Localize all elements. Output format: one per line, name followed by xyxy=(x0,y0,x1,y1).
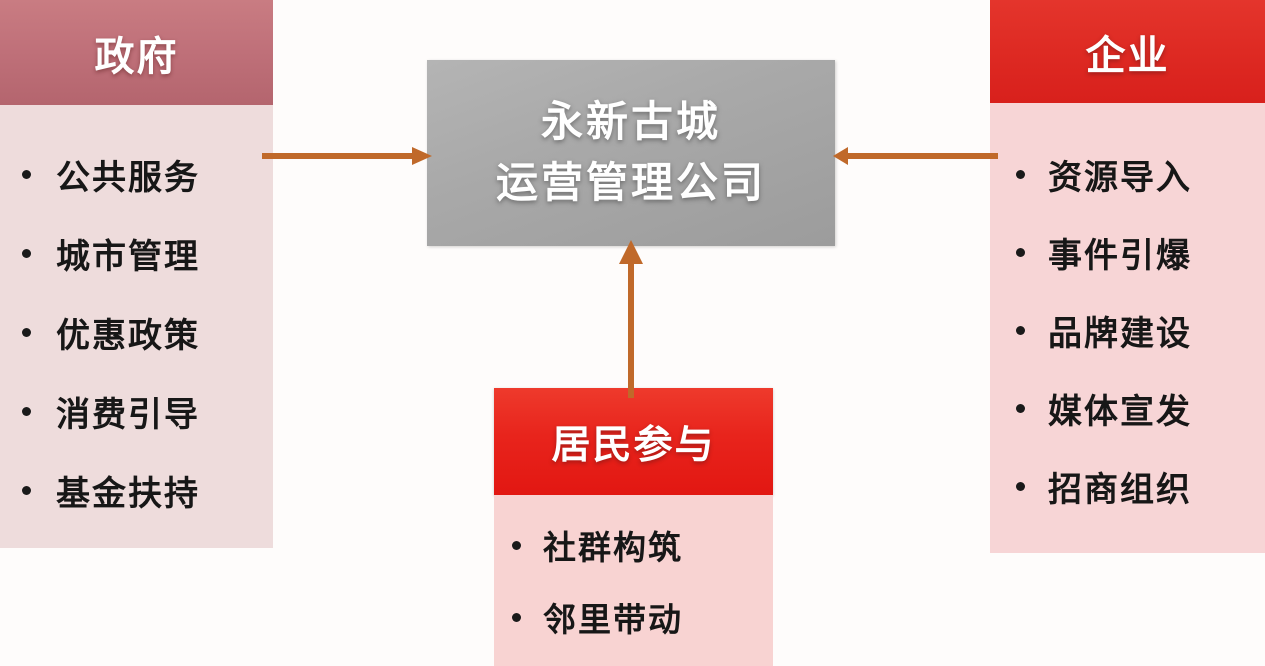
enterprise-item-label: 事件引爆 xyxy=(1048,228,1192,277)
enterprise-panel-body: 资源导入 事件引爆 品牌建设 媒体宣发 招商组织 xyxy=(990,103,1265,553)
residents-panel: 居民参与 社群构筑 邻里带动 xyxy=(494,388,773,666)
government-item-label: 公共服务 xyxy=(56,150,200,199)
bullet-icon xyxy=(1016,170,1025,179)
bullet-icon xyxy=(512,613,521,622)
bullet-icon xyxy=(22,407,31,416)
list-item: 事件引爆 xyxy=(990,213,1265,291)
bullet-icon xyxy=(22,170,31,179)
enterprise-panel-header: 企业 xyxy=(990,0,1265,103)
center-company-box: 永新古城 运营管理公司 xyxy=(427,60,835,246)
list-item: 消费引导 xyxy=(0,372,273,451)
list-item: 公共服务 xyxy=(0,135,273,214)
list-item: 社群构筑 xyxy=(494,509,773,581)
bullet-icon xyxy=(1016,248,1025,257)
arrow-enterprise-to-center-icon xyxy=(833,147,998,165)
government-item-label: 基金扶持 xyxy=(56,466,200,515)
bullet-icon xyxy=(1016,404,1025,413)
residents-item-label: 邻里带动 xyxy=(543,593,683,641)
government-item-label: 优惠政策 xyxy=(56,308,200,357)
residents-panel-body: 社群构筑 邻里带动 xyxy=(494,495,773,666)
government-panel-header: 政府 xyxy=(0,0,273,105)
arrow-residents-to-center-icon xyxy=(618,240,644,398)
list-item: 城市管理 xyxy=(0,214,273,293)
residents-item-label: 社群构筑 xyxy=(543,521,683,569)
bullet-icon xyxy=(1016,326,1025,335)
enterprise-item-label: 资源导入 xyxy=(1048,150,1192,199)
bullet-icon xyxy=(1016,482,1025,491)
list-item: 基金扶持 xyxy=(0,451,273,530)
list-item: 品牌建设 xyxy=(990,291,1265,369)
enterprise-header-label: 企业 xyxy=(1086,23,1170,81)
government-panel: 政府 公共服务 城市管理 优惠政策 消费引导 基金扶持 xyxy=(0,0,273,548)
center-company-line-1: 永新古城 xyxy=(541,92,721,153)
enterprise-item-label: 媒体宣发 xyxy=(1048,384,1192,433)
government-panel-body: 公共服务 城市管理 优惠政策 消费引导 基金扶持 xyxy=(0,105,273,548)
list-item: 邻里带动 xyxy=(494,581,773,653)
enterprise-item-label: 招商组织 xyxy=(1048,462,1192,511)
enterprise-panel: 企业 资源导入 事件引爆 品牌建设 媒体宣发 招商组织 xyxy=(990,0,1265,553)
bullet-icon xyxy=(22,486,31,495)
residents-panel-header: 居民参与 xyxy=(494,388,773,495)
arrow-government-to-center-icon xyxy=(262,147,432,165)
bullet-icon xyxy=(512,541,521,550)
list-item: 招商组织 xyxy=(990,447,1265,525)
list-item: 优惠政策 xyxy=(0,293,273,372)
enterprise-item-label: 品牌建设 xyxy=(1048,306,1192,355)
center-company-line-2: 运营管理公司 xyxy=(496,153,766,214)
residents-header-label: 居民参与 xyxy=(551,414,715,470)
diagram-canvas: 政府 公共服务 城市管理 优惠政策 消费引导 基金扶持 xyxy=(0,0,1265,666)
list-item: 媒体宣发 xyxy=(990,369,1265,447)
government-item-label: 消费引导 xyxy=(56,387,200,436)
government-header-label: 政府 xyxy=(95,24,179,82)
bullet-icon xyxy=(22,249,31,258)
list-item: 资源导入 xyxy=(990,135,1265,213)
bullet-icon xyxy=(22,328,31,337)
government-item-label: 城市管理 xyxy=(56,229,200,278)
